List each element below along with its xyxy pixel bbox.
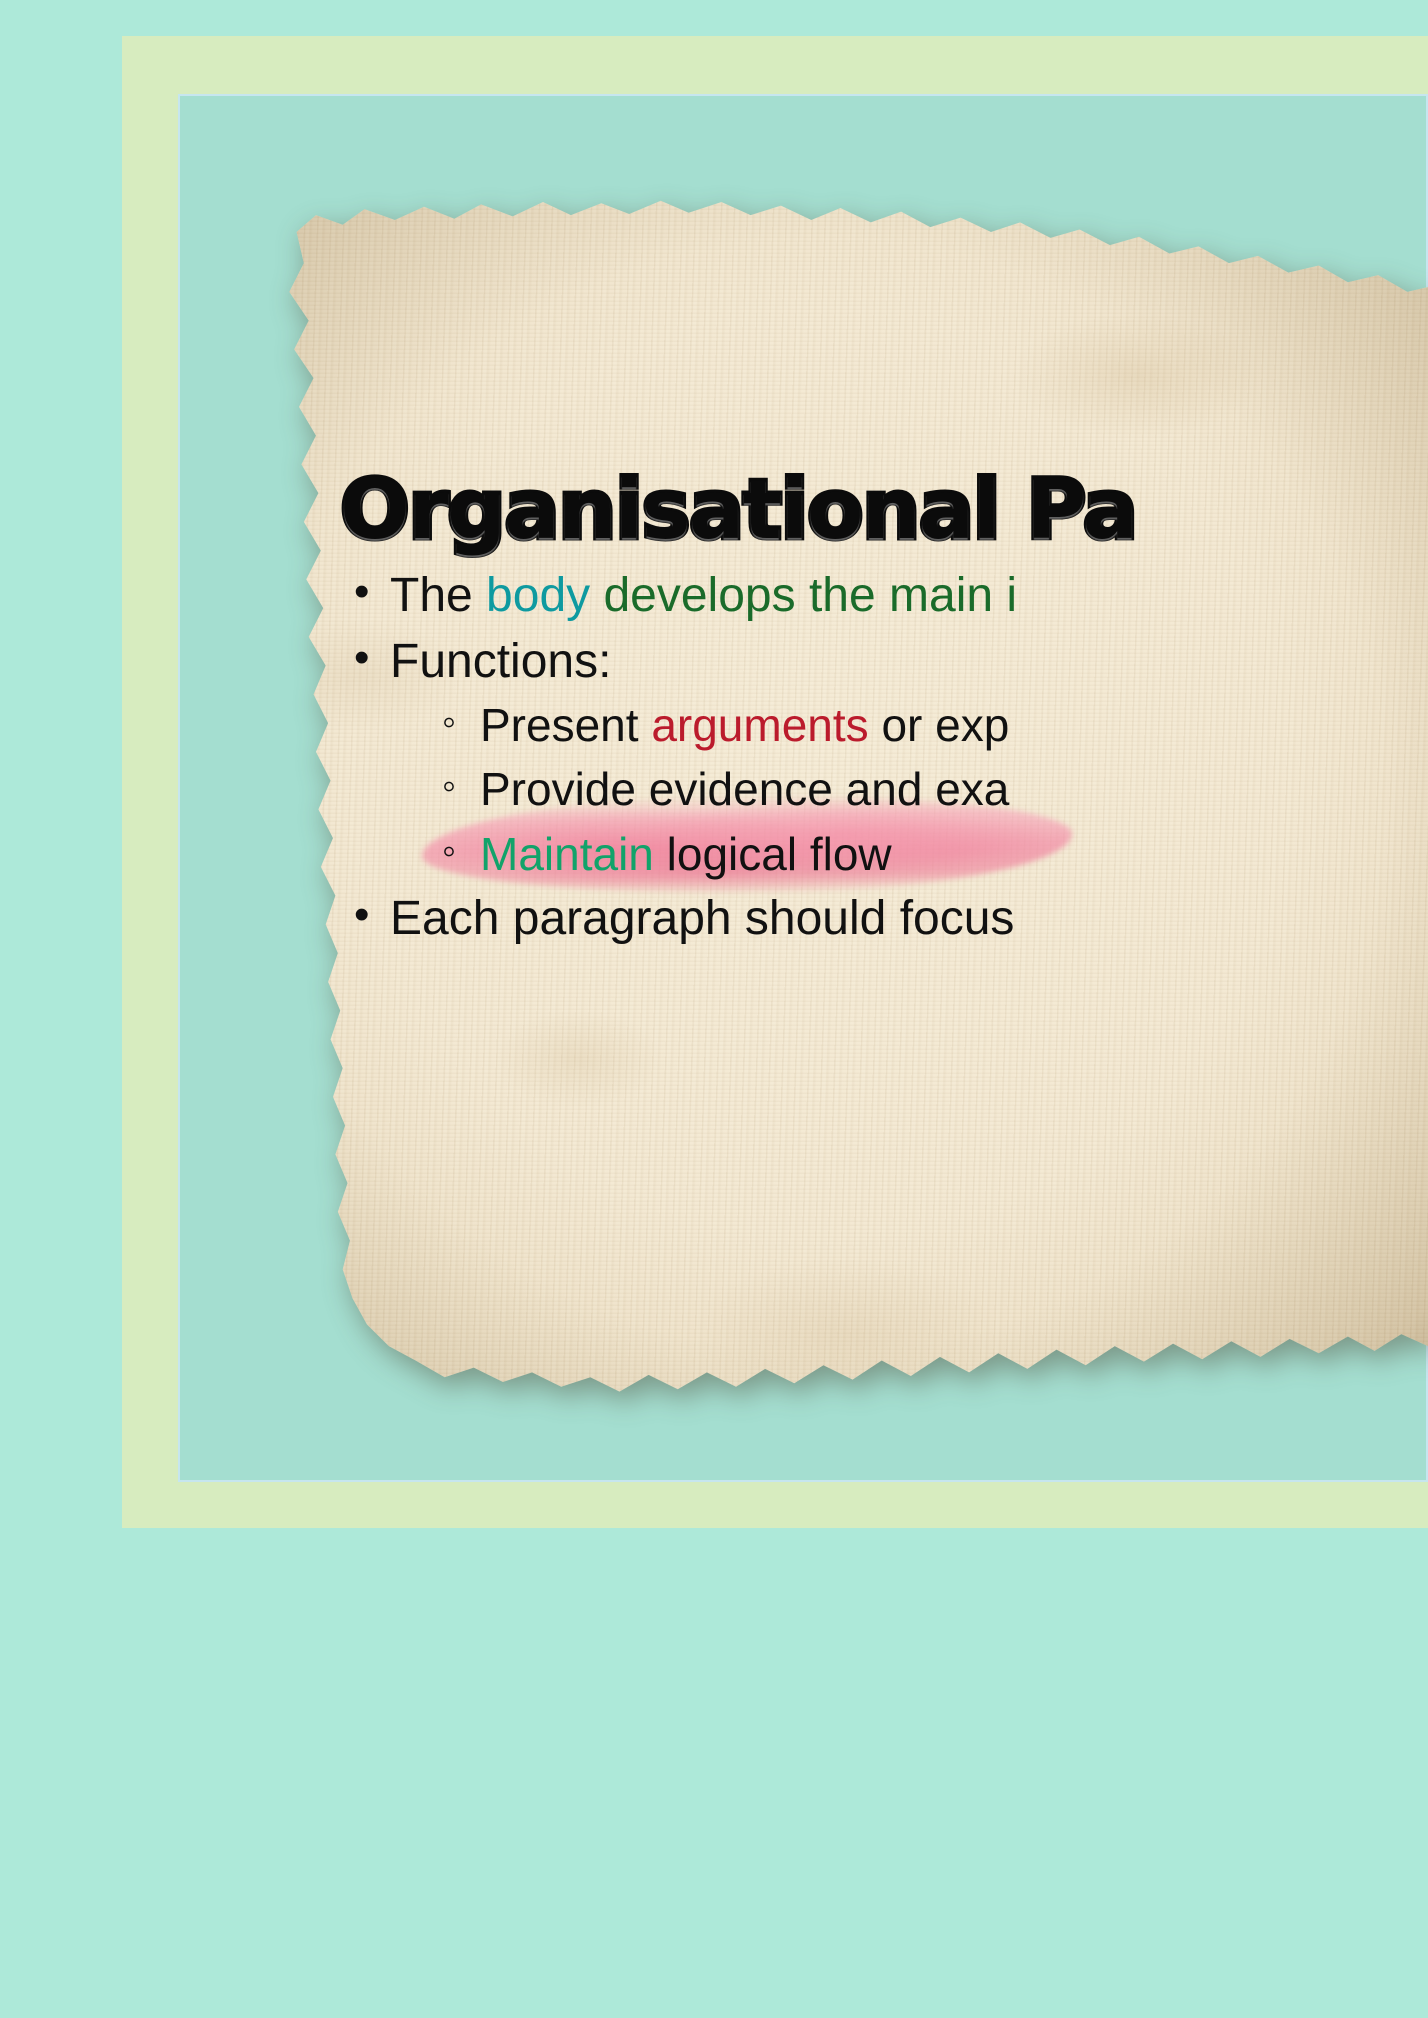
page-title: Organisational Pa [340, 470, 1428, 552]
text-segment-maintain: Maintain [480, 828, 667, 880]
text-segment-functions: Functions: [390, 635, 611, 688]
slide-canvas: Organisational Pa The body develops the … [0, 0, 1428, 2018]
text-segment-logical-flow: logical flow [667, 828, 892, 880]
text-segment-provide-evidence: Provide evidence and exa [480, 763, 1009, 815]
list-item: The body develops the main i [340, 570, 1428, 622]
highlight-wrapper: Maintain logical flow [480, 829, 892, 880]
text-segment-develops: develops the main i [603, 569, 1017, 622]
list-item: Each paragraph should focus [340, 893, 1428, 945]
bullet-list-level2: Present arguments or exp Provide evidenc… [390, 700, 1428, 880]
bullet-list-level1: The body develops the main i Functions: … [340, 570, 1428, 945]
list-item-highlighted: Maintain logical flow [428, 829, 1428, 880]
list-item: Provide evidence and exa [428, 764, 1428, 815]
text-segment-or-exp: or exp [881, 699, 1009, 751]
slide-content: Organisational Pa The body develops the … [340, 470, 1428, 959]
text-segment-the: The [390, 569, 486, 622]
list-item: Functions: Present arguments or exp Prov… [340, 636, 1428, 880]
text-segment-present: Present [480, 699, 651, 751]
list-item: Present arguments or exp [428, 700, 1428, 751]
text-segment-body: body [486, 569, 603, 622]
text-segment-each-paragraph: Each paragraph should focus [390, 892, 1014, 945]
text-segment-arguments: arguments [651, 699, 881, 751]
